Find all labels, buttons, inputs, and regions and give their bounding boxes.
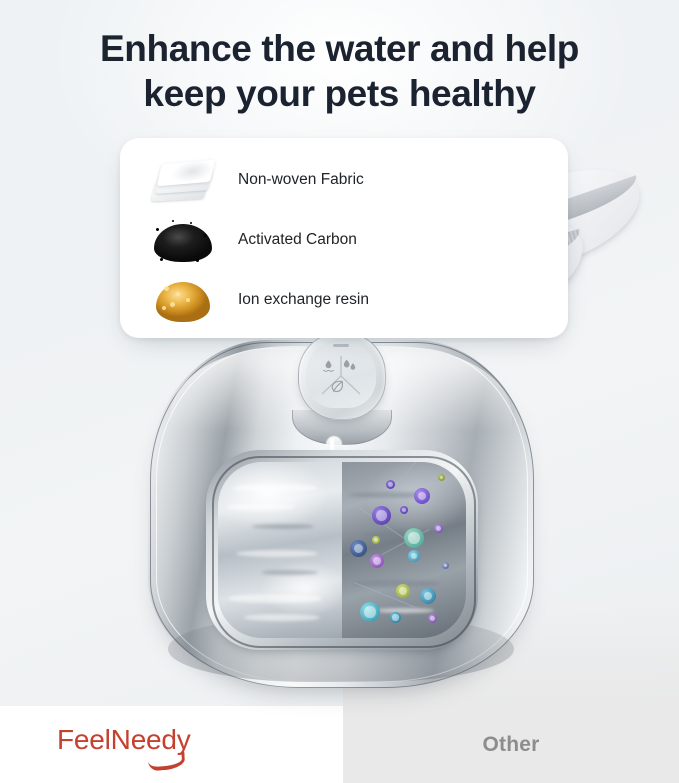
list-item: Activated Carbon xyxy=(146,214,446,266)
germ-particle xyxy=(442,562,449,569)
dispenser-head[interactable] xyxy=(298,332,386,420)
dispenser-brand-mark xyxy=(333,344,349,347)
germ-particle xyxy=(386,480,395,489)
germ-particle xyxy=(408,550,420,562)
water-drops-icon xyxy=(341,358,358,375)
brand-logo: FeelNeedy xyxy=(57,724,191,756)
bowl-water xyxy=(218,462,466,638)
product-marketing-image: Enhance the water and help keep your pet… xyxy=(0,0,679,783)
fabric-swatch-icon xyxy=(146,154,218,206)
germ-particle xyxy=(434,524,443,533)
water-fountain-product xyxy=(148,340,534,690)
carbon-granules-icon xyxy=(146,214,218,266)
germ-particle xyxy=(372,536,380,544)
headline-line-1: Enhance the water and help xyxy=(0,26,679,71)
germ-particle xyxy=(420,588,436,604)
germ-particle xyxy=(428,614,437,623)
materials-info-card: Non-woven Fabric Activated Carbon xyxy=(120,138,568,338)
leaf-filter-icon xyxy=(329,379,345,395)
germ-particle xyxy=(370,554,384,568)
germ-particle xyxy=(404,528,424,548)
materials-list: Non-woven Fabric Activated Carbon xyxy=(120,138,568,338)
germ-particle xyxy=(350,540,367,557)
germ-particle xyxy=(400,506,408,514)
page-headline: Enhance the water and help keep your pet… xyxy=(0,26,679,116)
dirty-water-half xyxy=(342,462,466,638)
list-item: Ion exchange resin xyxy=(146,274,446,326)
clean-water-half xyxy=(218,462,342,638)
germ-particle xyxy=(360,602,380,622)
headline-line-2: keep your pets healthy xyxy=(0,71,679,116)
material-label: Non-woven Fabric xyxy=(238,154,364,206)
germ-particle xyxy=(390,612,401,623)
material-label: Ion exchange resin xyxy=(238,274,369,326)
germ-particle xyxy=(372,506,391,525)
water-fountain-icon xyxy=(321,359,336,374)
germ-particle xyxy=(396,584,410,598)
list-item: Non-woven Fabric xyxy=(146,154,446,206)
resin-beads-icon xyxy=(146,274,218,326)
material-label: Activated Carbon xyxy=(238,214,357,266)
germ-particle xyxy=(414,488,430,504)
other-label: Other xyxy=(343,706,679,783)
germ-particle xyxy=(438,474,445,481)
